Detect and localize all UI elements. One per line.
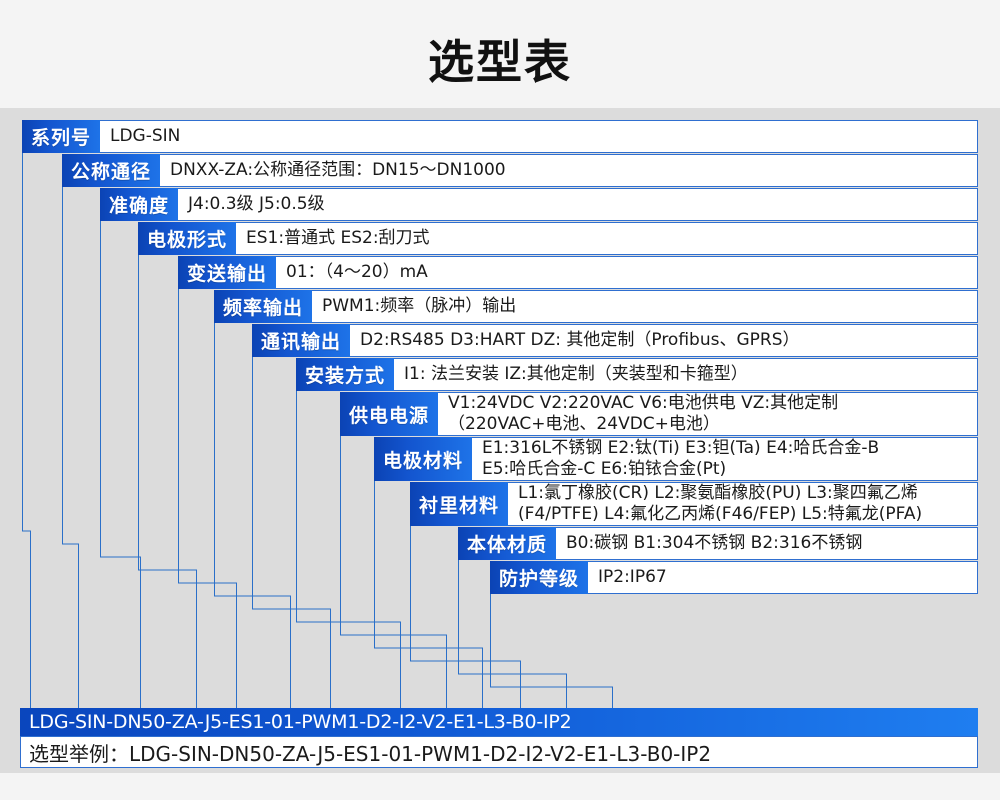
row-value: E1:316L不锈钢 E2:钛(Ti) E3:钽(Ta) E4:哈氏合金-BE5… <box>472 437 978 481</box>
selection-rows: 系列号LDG-SIN公称通径DNXX-ZA:公称通径范围：DN15～DN1000… <box>0 0 1000 800</box>
row-label[interactable]: 频率输出 <box>214 290 312 323</box>
row-value-line: L1:氯丁橡胶(CR) L2:聚氨酯橡胶(PU) L3:聚四氟乙烯 <box>518 483 977 504</box>
row-value: B0:碳钢 B1:304不锈钢 B2:316不锈钢 <box>556 527 978 560</box>
row-label[interactable]: 系列号 <box>22 120 100 153</box>
row-value: V1:24VDC V2:220VAC V6:电池供电 VZ:其他定制（220VA… <box>438 392 978 436</box>
row-value-line: E5:哈氏合金-C E6:铂铱合金(Pt) <box>482 459 977 480</box>
row-value-line: IP2:IP67 <box>598 567 977 588</box>
selection-row: 通讯输出D2:RS485 D3:HART DZ: 其他定制（Profibus、G… <box>252 324 978 357</box>
row-label[interactable]: 电极材料 <box>374 437 472 481</box>
row-label[interactable]: 本体材质 <box>458 527 556 560</box>
row-value-line: (F4/PTFE) L4:氟化乙丙烯(F46/FEP) L5:特氟龙(PFA) <box>518 504 977 525</box>
selection-row: 准确度J4:0.3级 J5:0.5级 <box>100 188 978 221</box>
row-value: PWM1:频率（脉冲）输出 <box>312 290 978 323</box>
row-value-line: ES1:普通式 ES2:刮刀式 <box>246 228 977 249</box>
selection-row: 电极材料E1:316L不锈钢 E2:钛(Ti) E3:钽(Ta) E4:哈氏合金… <box>374 437 978 481</box>
selection-row: 电极形式ES1:普通式 ES2:刮刀式 <box>138 222 978 255</box>
row-value: D2:RS485 D3:HART DZ: 其他定制（Profibus、GPRS） <box>350 324 978 357</box>
row-value-line: B0:碳钢 B1:304不锈钢 B2:316不锈钢 <box>566 533 977 554</box>
selection-row: 变送输出01：（4～20）mA <box>178 256 978 289</box>
row-value-line: I1: 法兰安装 IZ:其他定制（夹装型和卡箍型） <box>404 364 977 385</box>
row-value: LDG-SIN <box>100 120 978 153</box>
row-value: 01：（4～20）mA <box>276 256 978 289</box>
selection-row: 本体材质B0:碳钢 B1:304不锈钢 B2:316不锈钢 <box>458 527 978 560</box>
selection-row: 防护等级IP2:IP67 <box>490 561 978 594</box>
selection-row: 系列号LDG-SIN <box>22 120 978 153</box>
row-value: L1:氯丁橡胶(CR) L2:聚氨酯橡胶(PU) L3:聚四氟乙烯(F4/PTF… <box>508 482 978 526</box>
row-value: ES1:普通式 ES2:刮刀式 <box>236 222 978 255</box>
row-value-line: （220VAC+电池、24VDC+电池） <box>448 414 977 435</box>
row-value: J4:0.3级 J5:0.5级 <box>178 188 978 221</box>
row-label[interactable]: 衬里材料 <box>410 482 508 526</box>
row-label[interactable]: 公称通径 <box>62 154 160 187</box>
selection-row: 安装方式I1: 法兰安装 IZ:其他定制（夹装型和卡箍型） <box>296 358 978 391</box>
row-value: IP2:IP67 <box>588 561 978 594</box>
model-code-bar: LDG-SIN-DN50-ZA-J5-ES1-01-PWM1-D2-I2-V2-… <box>20 708 978 736</box>
row-value-line: LDG-SIN <box>110 126 977 147</box>
row-value-line: D2:RS485 D3:HART DZ: 其他定制（Profibus、GPRS） <box>360 330 977 351</box>
row-label[interactable]: 安装方式 <box>296 358 394 391</box>
row-label[interactable]: 电极形式 <box>138 222 236 255</box>
row-label[interactable]: 变送输出 <box>178 256 276 289</box>
selection-row: 供电电源V1:24VDC V2:220VAC V6:电池供电 VZ:其他定制（2… <box>340 392 978 436</box>
row-value-line: PWM1:频率（脉冲）输出 <box>322 296 977 317</box>
selection-row: 公称通径DNXX-ZA:公称通径范围：DN15～DN1000 <box>62 154 978 187</box>
row-label[interactable]: 通讯输出 <box>252 324 350 357</box>
row-value-line: 01：（4～20）mA <box>286 262 977 283</box>
row-label[interactable]: 供电电源 <box>340 392 438 436</box>
row-label[interactable]: 准确度 <box>100 188 178 221</box>
row-value: DNXX-ZA:公称通径范围：DN15～DN1000 <box>160 154 978 187</box>
row-value-line: V1:24VDC V2:220VAC V6:电池供电 VZ:其他定制 <box>448 393 977 414</box>
selection-row: 衬里材料L1:氯丁橡胶(CR) L2:聚氨酯橡胶(PU) L3:聚四氟乙烯(F4… <box>410 482 978 526</box>
row-value-line: E1:316L不锈钢 E2:钛(Ti) E3:钽(Ta) E4:哈氏合金-B <box>482 438 977 459</box>
row-value-line: J4:0.3级 J5:0.5级 <box>188 194 977 215</box>
row-value: I1: 法兰安装 IZ:其他定制（夹装型和卡箍型） <box>394 358 978 391</box>
row-label[interactable]: 防护等级 <box>490 561 588 594</box>
row-value-line: DNXX-ZA:公称通径范围：DN15～DN1000 <box>170 160 977 181</box>
example-bar: 选型举例：LDG-SIN-DN50-ZA-J5-ES1-01-PWM1-D2-I… <box>20 736 978 768</box>
selection-row: 频率输出PWM1:频率（脉冲）输出 <box>214 290 978 323</box>
